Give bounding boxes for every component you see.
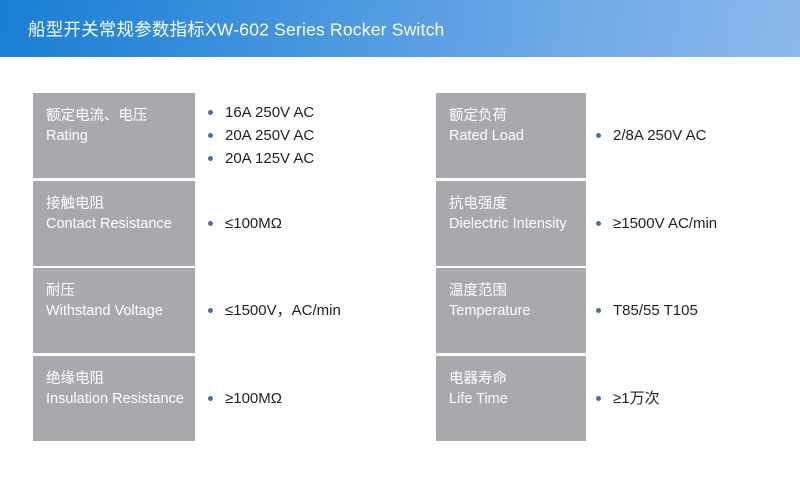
spec-value-item: 2/8A 250V AC <box>596 124 706 147</box>
spec-values-life-time: ≥1万次 <box>596 356 660 441</box>
spec-label-rating: 额定电流、电压 Rating <box>33 93 195 178</box>
spec-value-item: ≤100MΩ <box>208 212 282 235</box>
spec-label-dielectric-intensity: 抗电强度 Dielectric Intensity <box>436 181 586 266</box>
spec-values-insulation-resistance: ≥100MΩ <box>208 356 282 441</box>
spec-label-contact-resistance: 接触电阻 Contact Resistance <box>33 181 195 266</box>
spec-row: 耐压 Withstand Voltage ≤1500V，AC/min <box>33 268 403 353</box>
spec-column-left: 额定电流、电压 Rating 16A 250V AC 20A 250V AC 2… <box>33 93 403 443</box>
spec-values-dielectric-intensity: ≥1500V AC/min <box>596 181 717 266</box>
spec-label-cn: 耐压 <box>46 281 195 301</box>
spec-label-en: Rated Load <box>449 126 586 147</box>
spec-label-cn: 额定电流、电压 <box>46 106 195 126</box>
specification-table: 额定电流、电压 Rating 16A 250V AC 20A 250V AC 2… <box>0 57 800 479</box>
spec-label-en: Contact Resistance <box>46 214 195 235</box>
spec-value-text: T85/55 T105 <box>613 299 698 322</box>
spec-value-item: T85/55 T105 <box>596 299 698 322</box>
bullet-icon <box>208 308 213 313</box>
spec-label-en: Insulation Resistance <box>46 389 195 410</box>
spec-value-text: 16A 250V AC <box>225 101 314 124</box>
spec-row: 抗电强度 Dielectric Intensity ≥1500V AC/min <box>436 181 796 266</box>
spec-label-cn: 额定负荷 <box>449 106 586 126</box>
spec-value-item: ≥100MΩ <box>208 387 282 410</box>
spec-label-en: Temperature <box>449 301 586 322</box>
spec-column-right: 额定负荷 Rated Load 2/8A 250V AC 抗电强度 Dielec… <box>436 93 796 443</box>
bullet-icon <box>596 133 601 138</box>
spec-row: 额定负荷 Rated Load 2/8A 250V AC <box>436 93 796 178</box>
spec-values-contact-resistance: ≤100MΩ <box>208 181 282 266</box>
bullet-icon <box>596 308 601 313</box>
spec-label-rated-load: 额定负荷 Rated Load <box>436 93 586 178</box>
bullet-icon <box>208 396 213 401</box>
spec-value-text: ≤100MΩ <box>225 212 282 235</box>
spec-value-text: ≥1500V AC/min <box>613 212 717 235</box>
bullet-icon <box>208 221 213 226</box>
spec-label-en: Dielectric Intensity <box>449 214 586 235</box>
spec-value-text: ≥1万次 <box>613 387 660 410</box>
spec-values-rated-load: 2/8A 250V AC <box>596 93 706 178</box>
spec-value-item: 20A 250V AC <box>208 124 314 147</box>
spec-label-cn: 温度范围 <box>449 281 586 301</box>
spec-row: 接触电阻 Contact Resistance ≤100MΩ <box>33 181 403 266</box>
spec-value-text: 20A 125V AC <box>225 147 314 170</box>
spec-values-temperature: T85/55 T105 <box>596 268 698 353</box>
spec-value-item: ≥1500V AC/min <box>596 212 717 235</box>
spec-values-withstand-voltage: ≤1500V，AC/min <box>208 268 341 353</box>
page-title: 船型开关常规参数指标XW-602 Series Rocker Switch <box>28 16 444 41</box>
spec-label-en: Rating <box>46 126 195 147</box>
spec-value-text: ≤1500V，AC/min <box>225 299 341 322</box>
spec-value-text: ≥100MΩ <box>225 387 282 410</box>
spec-value-item: 16A 250V AC <box>208 101 314 124</box>
spec-value-text: 2/8A 250V AC <box>613 124 706 147</box>
spec-label-cn: 电器寿命 <box>449 369 586 389</box>
spec-label-withstand-voltage: 耐压 Withstand Voltage <box>33 268 195 353</box>
spec-value-item: 20A 125V AC <box>208 147 314 170</box>
spec-row: 温度范围 Temperature T85/55 T105 <box>436 268 796 353</box>
spec-label-temperature: 温度范围 Temperature <box>436 268 586 353</box>
spec-label-insulation-resistance: 绝缘电阻 Insulation Resistance <box>33 356 195 441</box>
spec-value-text: 20A 250V AC <box>225 124 314 147</box>
spec-label-en: Life Time <box>449 389 586 410</box>
spec-values-rating: 16A 250V AC 20A 250V AC 20A 125V AC <box>208 93 314 178</box>
spec-row: 绝缘电阻 Insulation Resistance ≥100MΩ <box>33 356 403 441</box>
spec-label-life-time: 电器寿命 Life Time <box>436 356 586 441</box>
bullet-icon <box>208 133 213 138</box>
spec-row: 额定电流、电压 Rating 16A 250V AC 20A 250V AC 2… <box>33 93 403 178</box>
spec-label-cn: 绝缘电阻 <box>46 369 195 389</box>
bullet-icon <box>596 396 601 401</box>
spec-label-cn: 抗电强度 <box>449 194 586 214</box>
spec-label-cn: 接触电阻 <box>46 194 195 214</box>
page-header: 船型开关常规参数指标XW-602 Series Rocker Switch <box>0 0 800 57</box>
spec-value-item: ≤1500V，AC/min <box>208 299 341 322</box>
spec-row: 电器寿命 Life Time ≥1万次 <box>436 356 796 441</box>
bullet-icon <box>208 156 213 161</box>
spec-label-en: Withstand Voltage <box>46 301 195 322</box>
bullet-icon <box>596 221 601 226</box>
bullet-icon <box>208 110 213 115</box>
spec-value-item: ≥1万次 <box>596 387 660 410</box>
